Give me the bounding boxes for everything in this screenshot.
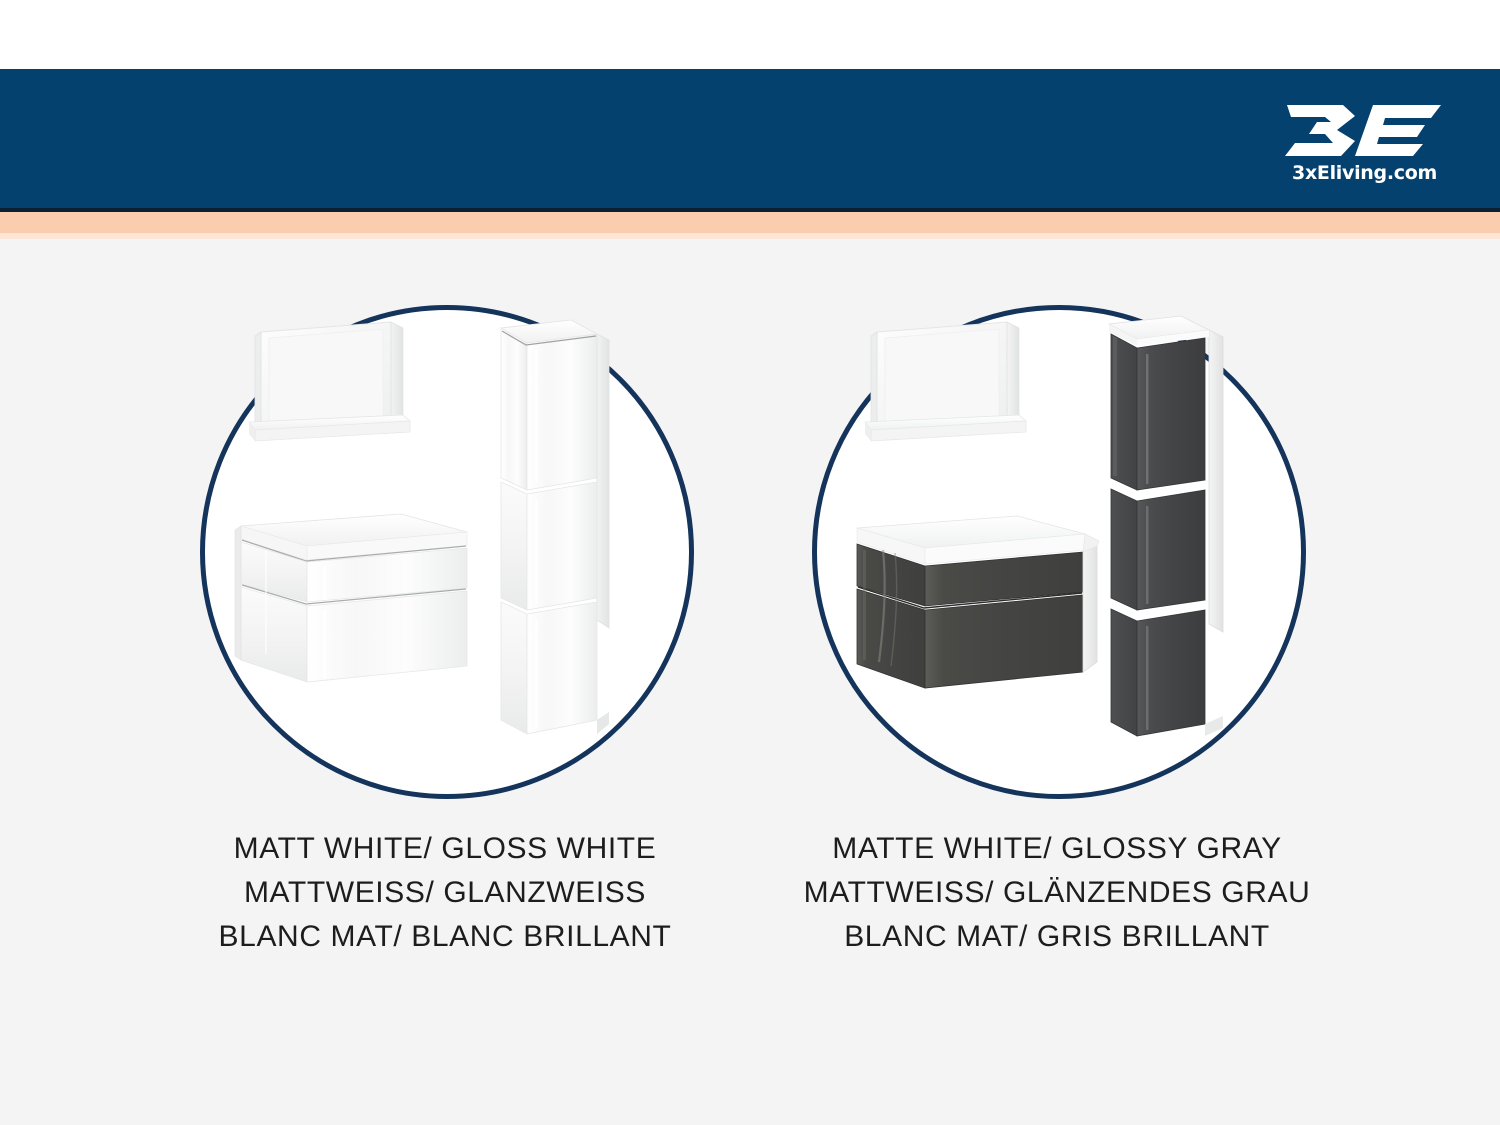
- caption-line-en: MATTE WHITE/ GLOSSY GRAY: [737, 827, 1377, 871]
- tall-cabinet-column-white: [501, 320, 609, 734]
- product-finish-comparison-page: 3xEliving.com: [0, 0, 1500, 1125]
- caption-line-fr: BLANC MAT/ GRIS BRILLANT: [737, 915, 1377, 959]
- finish-option-gray[interactable]: MATTE WHITE/ GLOSSY GRAY MATTWEISS/ GLÄN…: [737, 239, 1377, 1125]
- wall-mirror-with-shelf-white: [249, 322, 410, 441]
- tall-cabinet-column-gray: [1109, 316, 1223, 736]
- vanity-unit-white: [235, 514, 467, 682]
- caption-line-de: MATTWEISS/ GLANZWEISS: [125, 871, 765, 915]
- furniture-illustration-gray: [817, 310, 1311, 804]
- furniture-illustration-white: [205, 310, 699, 804]
- caption-line-de: MATTWEISS/ GLÄNZENDES GRAU: [737, 871, 1377, 915]
- caption-gray: MATTE WHITE/ GLOSSY GRAY MATTWEISS/ GLÄN…: [737, 827, 1377, 958]
- logo-3e-icon: [1281, 96, 1449, 162]
- header-band: [0, 69, 1500, 208]
- brand-logo: 3xEliving.com: [1277, 96, 1452, 192]
- caption-line-en: MATT WHITE/ GLOSS WHITE: [125, 827, 765, 871]
- content-area: MATT WHITE/ GLOSS WHITE MATTWEISS/ GLANZ…: [0, 239, 1500, 1125]
- vanity-unit-gray: [857, 516, 1099, 688]
- caption-line-fr: BLANC MAT/ BLANC BRILLANT: [125, 915, 765, 959]
- finish-option-white[interactable]: MATT WHITE/ GLOSS WHITE MATTWEISS/ GLANZ…: [125, 239, 765, 1125]
- accent-band: [0, 212, 1500, 233]
- furniture-scene-white: [205, 310, 699, 804]
- product-circle-white: [200, 305, 694, 799]
- logo-wordmark: 3xEliving.com: [1292, 164, 1437, 183]
- furniture-scene-gray: [817, 310, 1311, 804]
- product-circle-gray: [812, 305, 1306, 799]
- wall-mirror-with-shelf-gray: [865, 322, 1026, 441]
- caption-white: MATT WHITE/ GLOSS WHITE MATTWEISS/ GLANZ…: [125, 827, 765, 958]
